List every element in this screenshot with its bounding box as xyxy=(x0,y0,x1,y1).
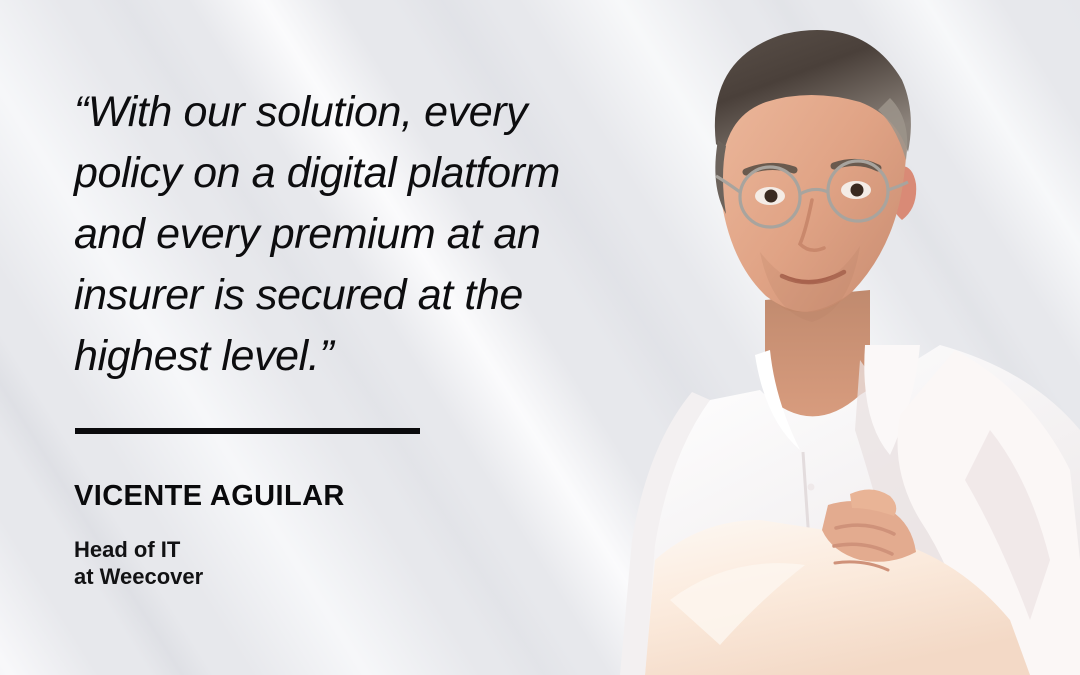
quote-text: “With our solution, every policy on a di… xyxy=(74,82,634,387)
iris-right xyxy=(851,184,864,197)
person-name: VICENTE AGUILAR xyxy=(74,480,345,513)
iris-left xyxy=(765,190,778,203)
testimonial-card: “With our solution, every policy on a di… xyxy=(0,0,1080,675)
divider-rule xyxy=(75,428,420,434)
shirt-button xyxy=(808,484,815,491)
portrait-photo xyxy=(560,0,1080,675)
person-role: Head of IT at Weecover xyxy=(74,536,203,590)
